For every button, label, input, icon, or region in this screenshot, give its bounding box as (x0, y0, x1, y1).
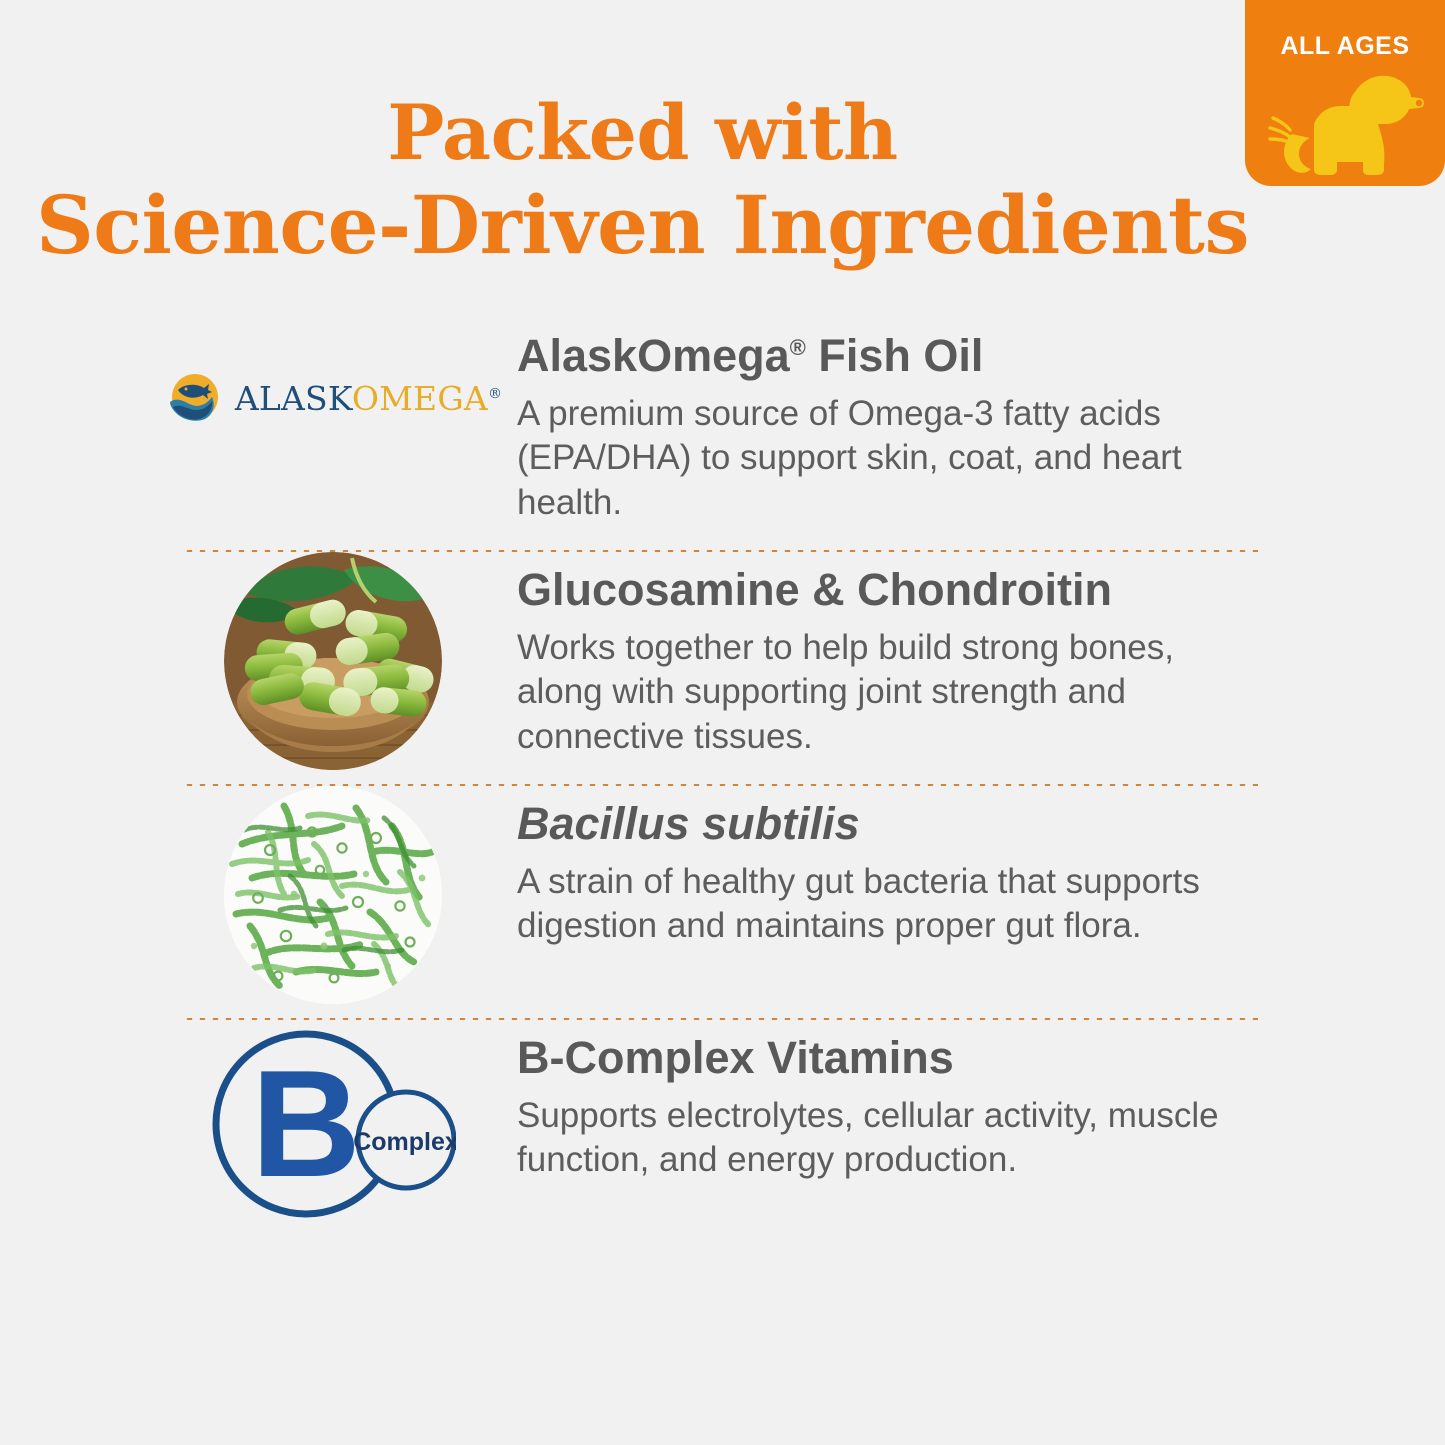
sitting-dog-icon (1267, 62, 1427, 180)
ingredient-row-bacillus: Bacillus subtilis A strain of healthy gu… (0, 786, 1445, 1018)
all-ages-badge: ALL AGES (1245, 0, 1445, 186)
ingredient-text-alaskomega: AlaskOmega® Fish Oil A premium source of… (483, 318, 1445, 526)
alaskomega-logo: ALASKOMEGA® (164, 372, 502, 424)
ingredient-row-alaskomega: ALASKOMEGA® AlaskOmega® Fish Oil A premi… (0, 318, 1445, 550)
ingredient-media-alaskomega: ALASKOMEGA® (183, 318, 483, 424)
ingredient-text-bcomplex: B-Complex Vitamins Supports electrolytes… (483, 1020, 1445, 1183)
ingredient-title-bcomplex: B-Complex Vitamins (517, 1034, 1245, 1083)
ingredient-text-bacillus: Bacillus subtilis A strain of healthy gu… (483, 786, 1445, 949)
alaskomega-word-part2: OMEGA (352, 379, 488, 418)
b-complex-icon: B Complex (210, 1026, 456, 1222)
ingredient-media-bcomplex: B Complex (183, 1020, 483, 1222)
alaskomega-emblem-icon (164, 372, 226, 424)
ingredient-title-bacillus: Bacillus subtilis (517, 800, 1245, 849)
ingredient-desc-bcomplex: Supports electrolytes, cellular activity… (517, 1094, 1245, 1184)
ingredient-row-glucosamine: Glucosamine & Chondroitin Works together… (0, 552, 1445, 784)
infographic-page: ALL AGES Packed with Science-Driven Ingr… (0, 0, 1445, 1445)
b-complex-logo: B Complex (210, 1026, 456, 1222)
registered-mark: ® (790, 335, 806, 360)
ingredient-title-glucosamine: Glucosamine & Chondroitin (517, 566, 1245, 615)
ingredient-desc-glucosamine: Works together to help build strong bone… (517, 626, 1245, 760)
green-capsules-photo (224, 552, 442, 770)
ingredient-row-bcomplex: B Complex B-Complex Vitamins Supports el… (0, 1020, 1445, 1252)
alaskomega-wordmark: ALASKOMEGA® (235, 382, 502, 415)
ingredient-title-alaskomega: AlaskOmega® Fish Oil (517, 332, 1245, 381)
page-title-line-1: Packed with (20, 88, 1265, 178)
page-title-line-2: Science-Driven Ingredients (20, 178, 1265, 272)
ingredient-desc-alaskomega: A premium source of Omega-3 fatty acids … (517, 392, 1245, 526)
page-title: Packed with Science-Driven Ingredients (20, 88, 1265, 272)
bacteria-microscopy-photo (224, 786, 442, 1004)
ingredient-media-bacillus (183, 786, 483, 1004)
all-ages-label: ALL AGES (1245, 32, 1445, 61)
complex-label: Complex (353, 1128, 456, 1156)
b-letter: B (251, 1039, 361, 1209)
ingredient-list: ALASKOMEGA® AlaskOmega® Fish Oil A premi… (0, 318, 1445, 1252)
ingredient-media-glucosamine (183, 552, 483, 770)
alaskomega-word-part1: ALASK (235, 379, 352, 418)
ingredient-title-main: AlaskOmega (517, 330, 790, 381)
ingredient-text-glucosamine: Glucosamine & Chondroitin Works together… (483, 552, 1445, 760)
ingredient-desc-bacillus: A strain of healthy gut bacteria that su… (517, 860, 1245, 950)
ingredient-title-tail: Fish Oil (806, 330, 984, 381)
